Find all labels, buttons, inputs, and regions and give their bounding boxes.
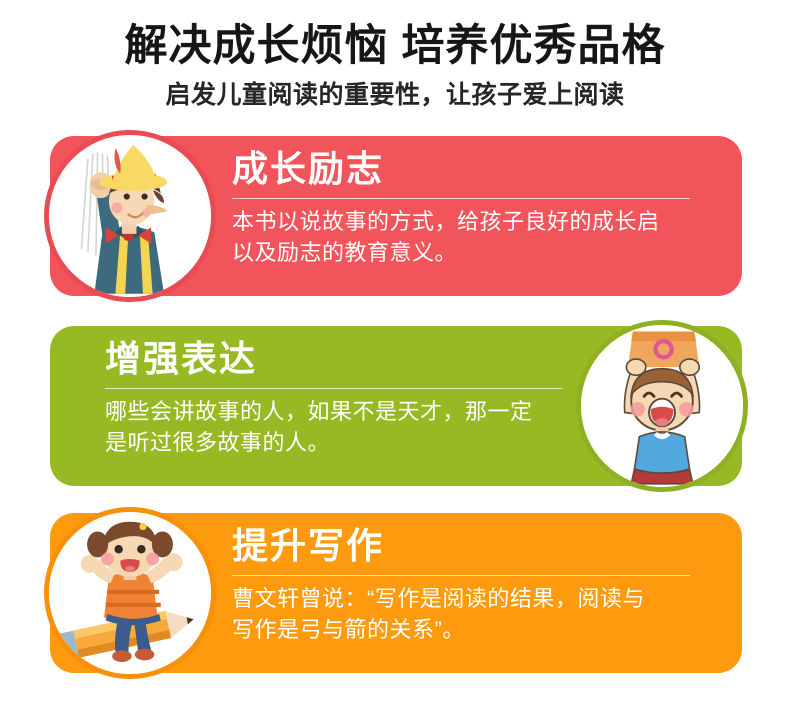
pinocchio-boy-holding-straw-icon xyxy=(44,130,216,302)
feature-card-expression[interactable]: 增强表达 哪些会讲故事的人，如果不是天才，那一定 是听过很多故事的人。 xyxy=(50,326,742,486)
page-title: 解决成长烦恼 培养优秀品格 xyxy=(0,22,790,70)
feature-card-body: 哪些会讲故事的人，如果不是天才，那一定 是听过很多故事的人。 xyxy=(105,396,562,458)
girl-riding-pencil-icon xyxy=(44,507,216,679)
feature-card-title: 增强表达 xyxy=(105,340,562,379)
feature-card-list: 成长励志 本书以说故事的方式，给孩子良好的成长启 以及励志的教育意义。 xyxy=(0,136,790,673)
feature-card-title: 成长励志 xyxy=(232,150,690,189)
feature-card-text-growth: 成长励志 本书以说故事的方式，给孩子良好的成长启 以及励志的教育意义。 xyxy=(232,150,690,268)
feature-card-text-expression: 增强表达 哪些会讲故事的人，如果不是天才，那一定 是听过很多故事的人。 xyxy=(105,340,562,458)
feature-card-text-writing: 提升写作 曹文轩曾说：“写作是阅读的结果，阅读与 写作是弓与箭的关系”。 xyxy=(232,527,690,645)
feature-card-writing[interactable]: 提升写作 曹文轩曾说：“写作是阅读的结果，阅读与 写作是弓与箭的关系”。 xyxy=(50,513,742,673)
shouting-boy-holding-book-icon xyxy=(576,320,748,492)
card-divider xyxy=(105,388,562,389)
feature-card-body: 本书以说故事的方式，给孩子良好的成长启 以及励志的教育意义。 xyxy=(232,206,690,268)
card-divider xyxy=(232,575,690,576)
page-header: 解决成长烦恼 培养优秀品格 启发儿童阅读的重要性，让孩子爱上阅读 xyxy=(0,0,790,110)
feature-card-body: 曹文轩曾说：“写作是阅读的结果，阅读与 写作是弓与箭的关系”。 xyxy=(232,583,690,645)
feature-card-growth[interactable]: 成长励志 本书以说故事的方式，给孩子良好的成长启 以及励志的教育意义。 xyxy=(50,136,742,296)
feature-card-title: 提升写作 xyxy=(232,527,690,566)
card-divider xyxy=(232,198,690,199)
page-subtitle: 启发儿童阅读的重要性，让孩子爱上阅读 xyxy=(0,80,790,110)
